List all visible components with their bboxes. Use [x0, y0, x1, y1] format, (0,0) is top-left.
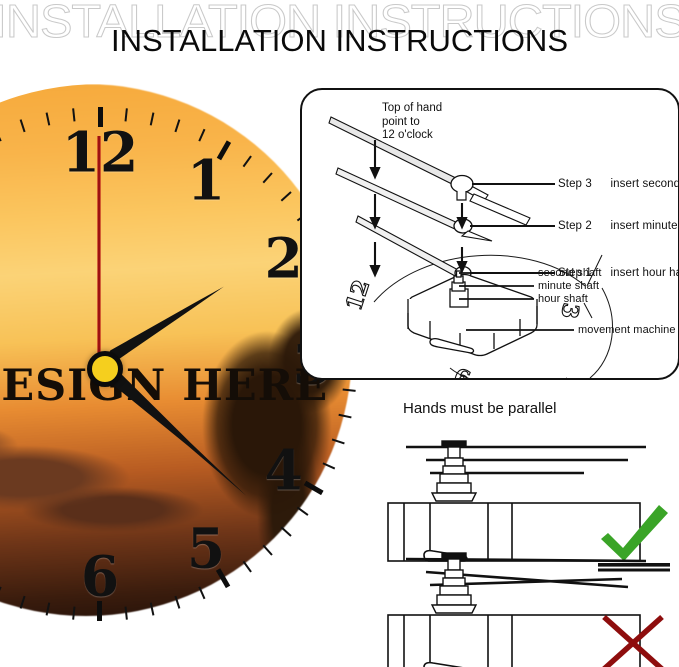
- clock-numeral-6: 6: [81, 549, 119, 604]
- parallel-comparison-graphic: [380, 425, 679, 667]
- parallel-section-heading: Hands must be parallel: [403, 400, 556, 417]
- step-2-number: Step 2: [558, 220, 592, 232]
- assembly-diagram-panel: 12 3 6 Top of hand point to 12 o'clock S…: [300, 88, 679, 380]
- page-title: INSTALLATION INSTRUCTIONS: [0, 23, 679, 59]
- step-3-number: Step 3: [558, 178, 592, 190]
- second-hand: [92, 134, 108, 364]
- step-2-label: Step 2 insert minute hand: [558, 220, 679, 232]
- step-2-text: insert minute hand: [610, 220, 679, 232]
- clock-center-hub: [87, 351, 123, 387]
- step-3-label: Step 3 insert second hand: [558, 178, 679, 190]
- assembly-diagram-graphic: 12 3 6 Top of hand point to 12 o'clock S…: [302, 90, 678, 378]
- parallel-correct-illustration: [388, 441, 670, 572]
- clock-numeral-4: 4: [264, 443, 302, 498]
- clock-numeral-2: 2: [264, 231, 302, 286]
- hour-shaft-label: hour shaft: [538, 293, 588, 305]
- clock-numeral-5: 5: [187, 520, 225, 575]
- minute-shaft-label: minute shaft: [538, 280, 599, 292]
- svg-text:12: 12: [341, 277, 375, 314]
- movement-machine-label: movement machine: [578, 324, 676, 336]
- installation-instructions-page: INSTALLATION INSTRUCTIONS INSTALLATION I…: [0, 0, 679, 667]
- top-of-hand-note: Top of hand point to 12 o'clock: [382, 102, 442, 143]
- tick-line-b: [584, 303, 592, 318]
- movement-machine-illustration: [408, 271, 537, 356]
- clock-numeral-1: 1: [187, 153, 225, 208]
- step-1-text: insert hour hand: [610, 267, 679, 279]
- step-3-text: insert second hand: [610, 178, 679, 190]
- second-shaft-label: second shaft: [538, 267, 602, 279]
